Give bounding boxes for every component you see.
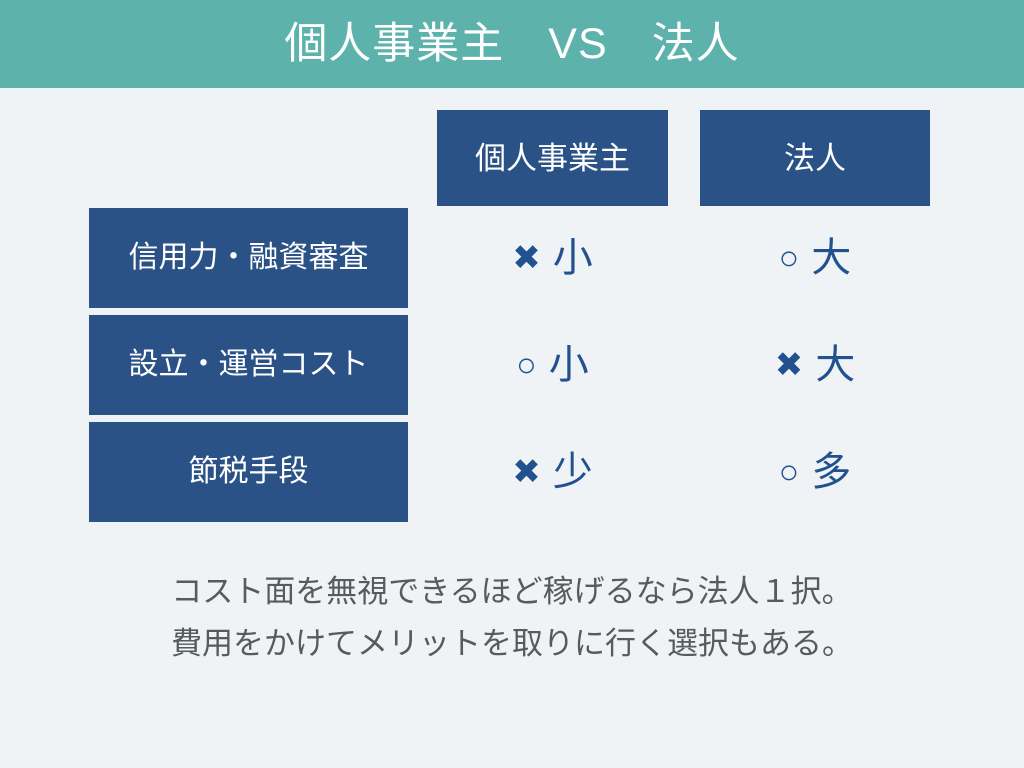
circle-icon: ○ — [779, 241, 800, 275]
table-column-headers: 個人事業主 法人 — [0, 88, 1024, 208]
cell-value: 少 — [553, 452, 593, 492]
cell-corporation: ✖ 大 — [700, 315, 930, 415]
footer-line-1: コスト面を無視できるほど稼げるなら法人１択。 — [0, 566, 1024, 618]
comparison-table: 個人事業主 法人 信用力・融資審査 ✖ 小 ○ 大 設立・運営コスト — [0, 88, 1024, 528]
column-header-label: 個人事業主 — [475, 143, 630, 174]
row-label-setup-running-cost: 設立・運営コスト — [89, 315, 408, 415]
cell-value: 小 — [553, 238, 593, 278]
row-label-tax-saving: 節税手段 — [89, 422, 408, 522]
row-label-text: 節税手段 — [189, 457, 309, 487]
page-title: 個人事業主 VS 法人 — [284, 23, 739, 66]
column-header-individual: 個人事業主 — [437, 110, 668, 206]
circle-icon: ○ — [779, 455, 800, 489]
table-rows: 信用力・融資審査 ✖ 小 ○ 大 設立・運営コスト ○ 小 ✖ 大 — [0, 208, 1024, 529]
column-header-label: 法人 — [784, 143, 846, 174]
cell-corporation: ○ 多 — [700, 422, 930, 522]
row-label-credit-loan: 信用力・融資審査 — [89, 208, 408, 308]
cell-individual: ✖ 少 — [437, 422, 668, 522]
cross-icon: ✖ — [512, 241, 541, 275]
cell-individual: ✖ 小 — [437, 208, 668, 308]
cell-value: 多 — [811, 452, 851, 492]
cell-individual: ○ 小 — [437, 315, 668, 415]
cell-value: 大 — [815, 345, 855, 385]
row-label-text: 信用力・融資審査 — [129, 243, 369, 273]
footer-note: コスト面を無視できるほど稼げるなら法人１択。 費用をかけてメリットを取りに行く選… — [0, 566, 1024, 670]
row-label-text: 設立・運営コスト — [129, 350, 369, 380]
column-header-corporation: 法人 — [700, 110, 930, 206]
header-banner: 個人事業主 VS 法人 — [0, 0, 1024, 88]
footer-line-2: 費用をかけてメリットを取りに行く選択もある。 — [0, 618, 1024, 670]
table-row: 節税手段 ✖ 少 ○ 多 — [0, 422, 1024, 522]
cell-value: 大 — [811, 238, 851, 278]
circle-icon: ○ — [516, 348, 537, 382]
table-row: 信用力・融資審査 ✖ 小 ○ 大 — [0, 208, 1024, 308]
table-row: 設立・運営コスト ○ 小 ✖ 大 — [0, 315, 1024, 415]
cell-value: 小 — [549, 345, 589, 385]
cell-corporation: ○ 大 — [700, 208, 930, 308]
cross-icon: ✖ — [512, 455, 541, 489]
cross-icon: ✖ — [775, 348, 804, 382]
